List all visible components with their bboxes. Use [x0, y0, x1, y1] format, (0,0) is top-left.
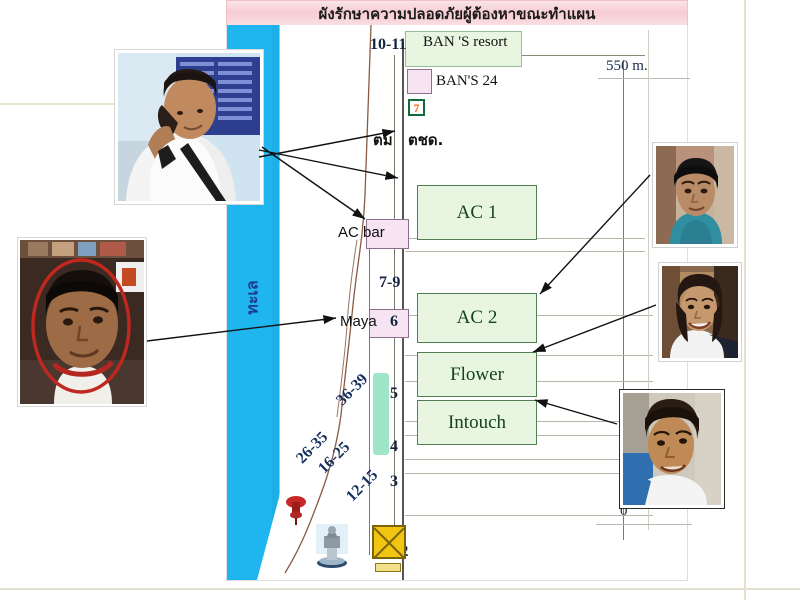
- circled-suspect-photo[interactable]: [18, 238, 146, 406]
- plot-line-3: [405, 251, 645, 252]
- plot-line-9: [405, 459, 653, 460]
- page-title-banner: ผังรักษาความปลอดภัยผู้ต้องหาขณะทำแผน: [226, 0, 688, 27]
- plot-line-10: [405, 473, 653, 474]
- checkpoint-label-tor-chor-dor: ตชด.: [408, 128, 443, 152]
- map-panel: ทะเล BAN 'S resort BAN'S 24: [226, 25, 688, 581]
- road-marker-6: 6: [390, 313, 398, 331]
- landmark-yellow-bar: [375, 563, 401, 572]
- road-line-west: [369, 225, 370, 555]
- circled-suspect-image: [20, 240, 144, 404]
- scale-top-label: 550 m.: [606, 58, 648, 75]
- legend-label-ban-s-resort: BAN 'S resort: [423, 34, 507, 51]
- shop-box-intouch[interactable]: Intouch: [417, 400, 537, 445]
- green-strip: [373, 373, 389, 455]
- road-marker-3: 3: [390, 473, 398, 491]
- road-marker-5: 5: [390, 385, 398, 403]
- sea-label: ทะเล: [241, 261, 266, 335]
- seven-eleven-icon: 7: [408, 99, 425, 116]
- shop-box-ac-2[interactable]: AC 2: [417, 293, 537, 343]
- road-marker-7-9: 7-9: [379, 274, 400, 292]
- road-marker-10-11: 10-11: [370, 36, 406, 54]
- place-label-ac-bar: AC bar: [338, 224, 385, 241]
- plot-line-11: [405, 515, 653, 516]
- smiling-woman-image: [662, 266, 738, 358]
- place-label-maya: Maya: [340, 313, 377, 330]
- monument-statue-icon: [314, 522, 350, 568]
- bg-line-left: [0, 103, 115, 105]
- shop-label-ac-1: AC 1: [457, 202, 498, 224]
- man-blue-shirt-photo[interactable]: [620, 390, 724, 508]
- man-on-phone-photo[interactable]: [115, 50, 263, 204]
- man-blue-shirt-image: [623, 393, 721, 505]
- smiling-woman-photo[interactable]: [659, 263, 741, 361]
- map-pin-icon: [283, 495, 309, 525]
- bg-line-right: [744, 0, 746, 600]
- legend-swatch-ban-s-24: [407, 69, 432, 94]
- slide-canvas: ผังรักษาความปลอดภัยผู้ต้องหาขณะทำแผน ทะเ…: [0, 0, 800, 600]
- legend-label-ban-s-24: BAN'S 24: [436, 73, 497, 90]
- road-marker-4: 4: [390, 438, 398, 456]
- landmark-x-box: [372, 525, 406, 559]
- older-woman-photo[interactable]: [653, 143, 737, 247]
- scale-bottom-tick: [596, 524, 692, 525]
- shop-box-ac-1[interactable]: AC 1: [417, 185, 537, 240]
- older-woman-image: [656, 146, 734, 244]
- checkpoint-label-tor-mor: ตม: [373, 128, 393, 152]
- shop-label-intouch: Intouch: [448, 412, 506, 434]
- man-on-phone-image: [118, 53, 260, 201]
- shop-label-flower: Flower: [450, 364, 504, 386]
- scale-top-tick: [598, 78, 690, 79]
- seven-eleven-glyph: 7: [414, 102, 420, 114]
- shop-box-flower[interactable]: Flower: [417, 352, 537, 397]
- page-title: ผังรักษาความปลอดภัยผู้ต้องหาขณะทำแผน: [319, 2, 596, 26]
- bg-line-bottom: [0, 588, 800, 590]
- shop-label-ac-2: AC 2: [457, 307, 498, 329]
